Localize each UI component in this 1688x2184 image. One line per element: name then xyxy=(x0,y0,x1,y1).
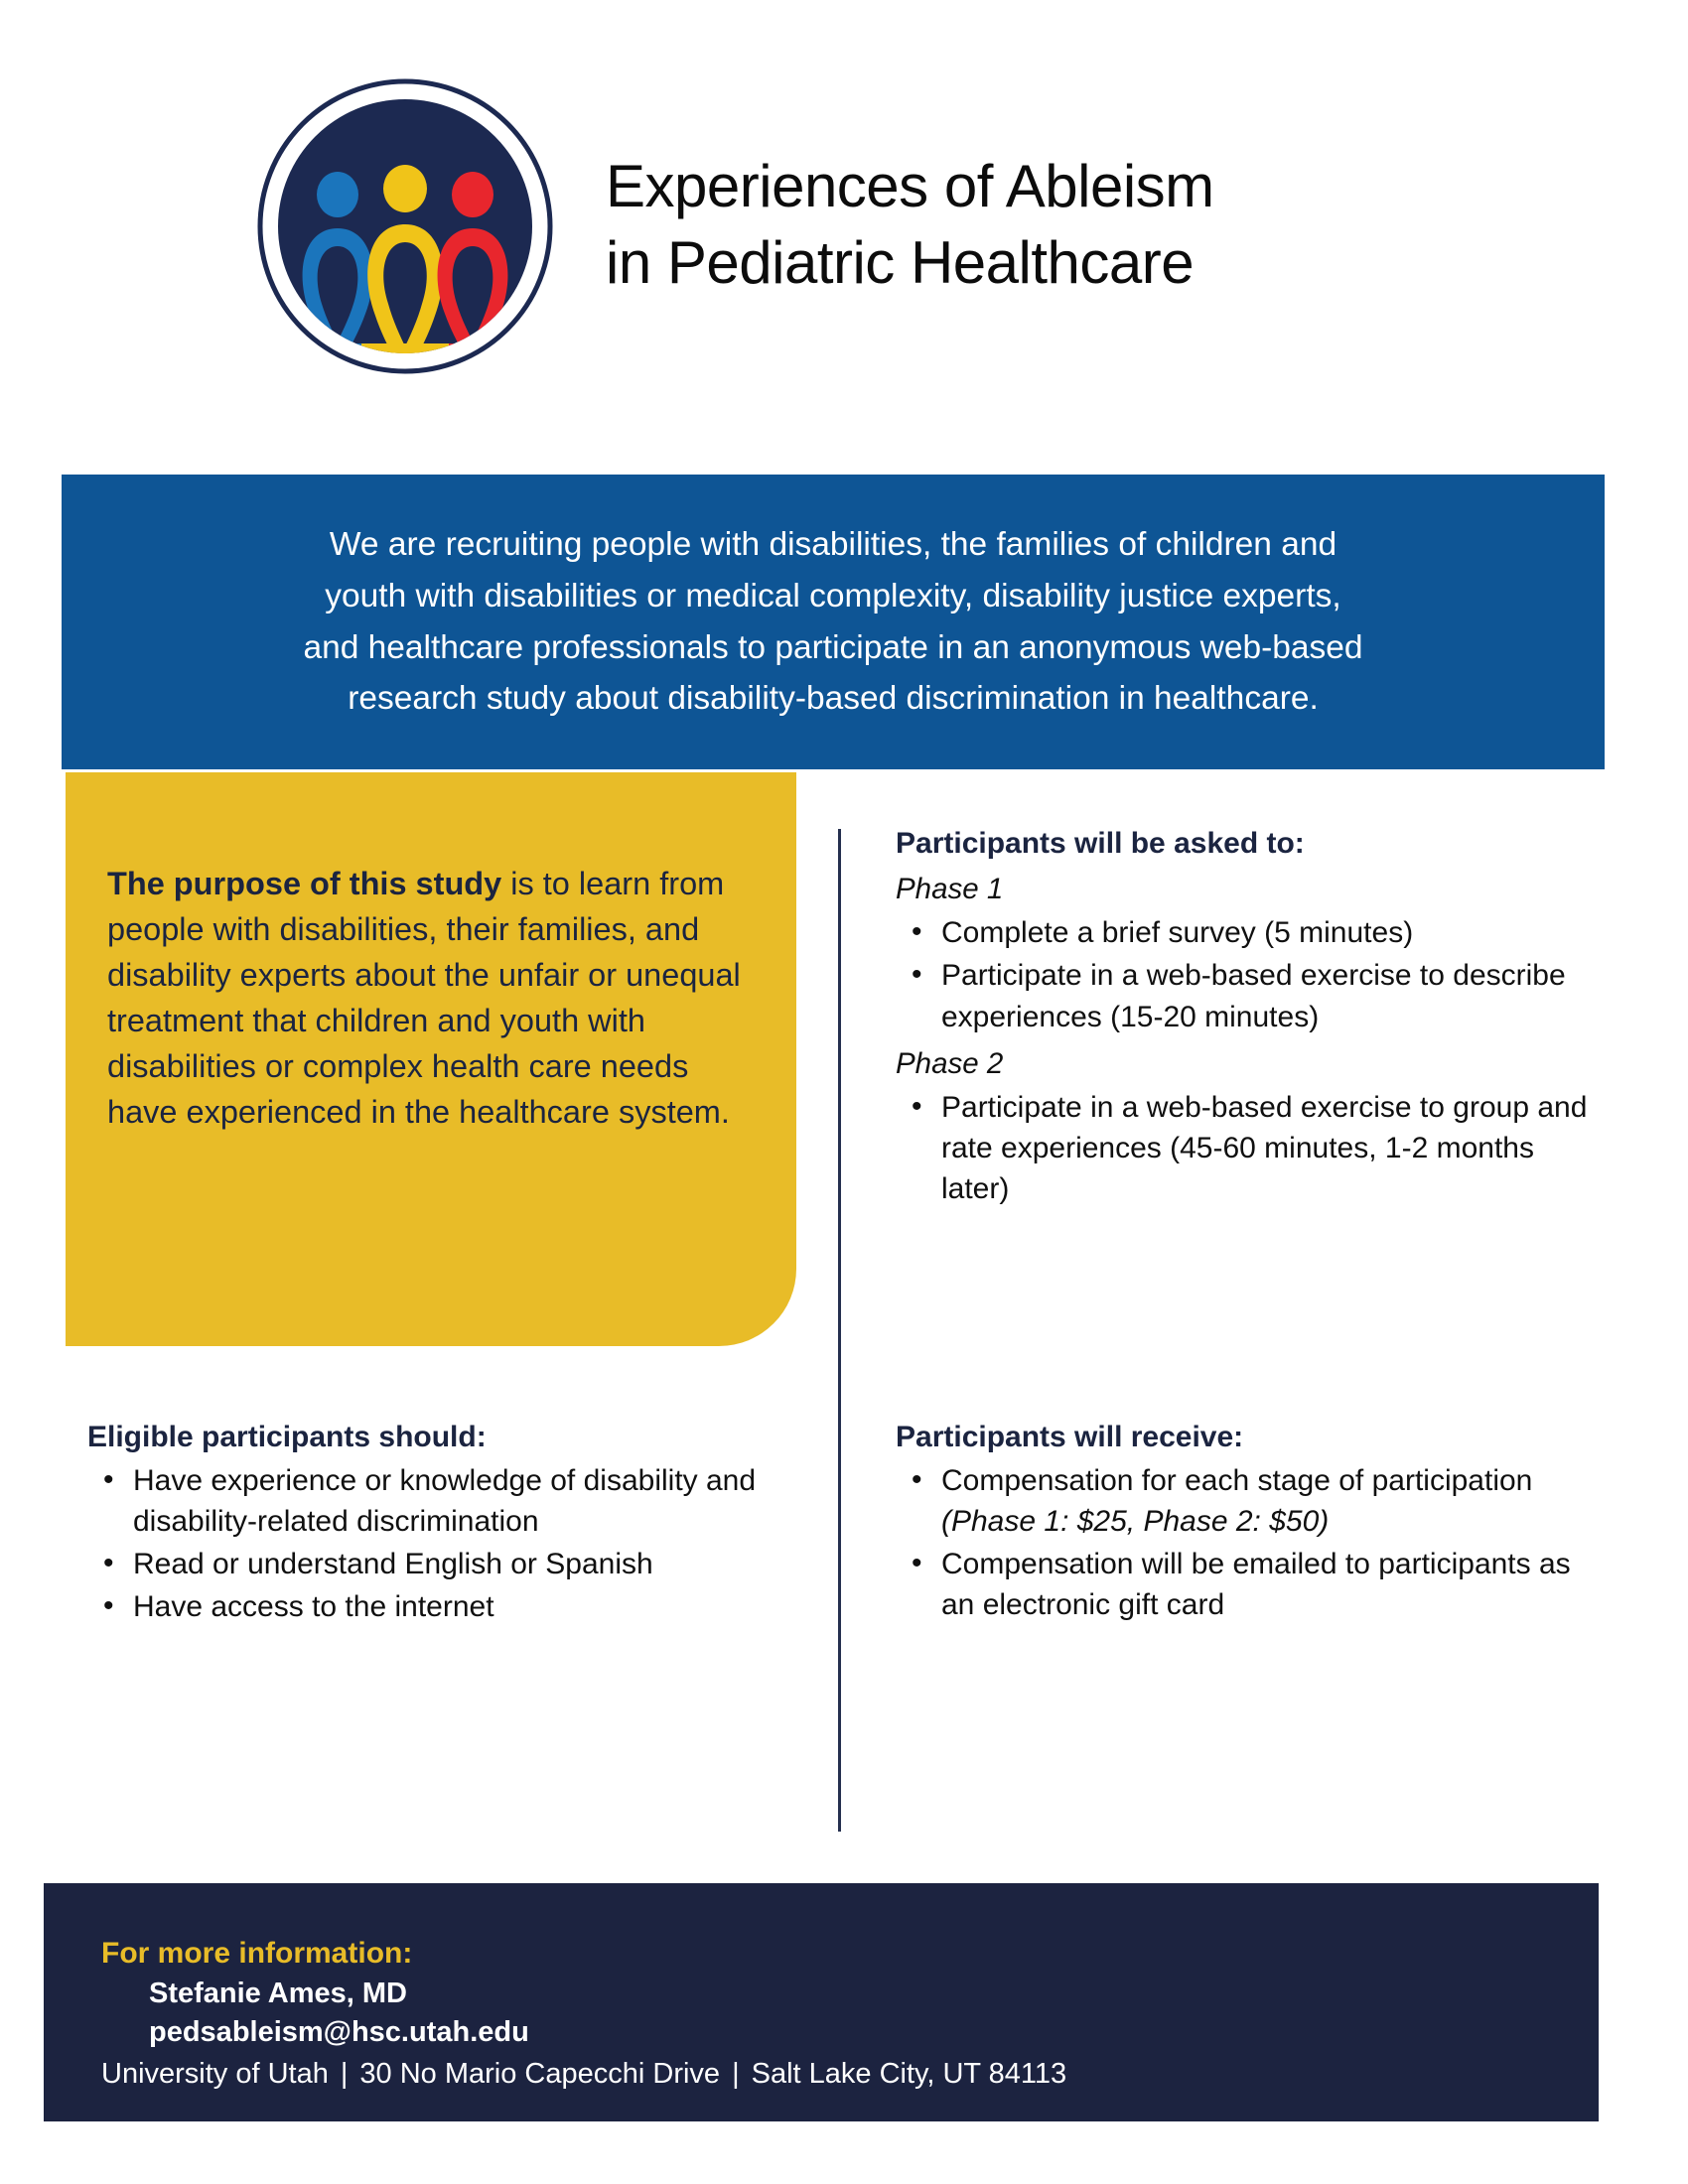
page-title-line-1: Experiences of Ableism xyxy=(606,149,1499,225)
address-street: 30 No Mario Capecchi Drive xyxy=(359,2058,720,2090)
experiences-of-ableism-logo xyxy=(256,77,554,375)
page-title-line-2: in Pediatric Healthcare xyxy=(606,225,1499,302)
address-institution: University of Utah xyxy=(101,2058,329,2090)
banner-line-4: research study about disability-based di… xyxy=(123,673,1543,725)
list-item: Have experience or knowledge of disabili… xyxy=(87,1460,802,1542)
compensation-amounts: (Phase 1: $25, Phase 2: $50) xyxy=(941,1505,1329,1538)
list-item: Participate in a web-based exercise to d… xyxy=(896,955,1591,1036)
flyer-header: Experiences of Ableism in Pediatric Heal… xyxy=(0,0,1688,475)
participants-receive-title: Participants will receive: xyxy=(896,1418,1591,1456)
contact-address: University of Utah|30 No Mario Capecchi … xyxy=(101,2055,1599,2094)
recruitment-banner: We are recruiting people with disabiliti… xyxy=(62,475,1605,769)
list-item: Have access to the internet xyxy=(87,1586,802,1627)
study-purpose-text: The purpose of this study is to learn fr… xyxy=(107,861,745,1136)
list-item: Complete a brief survey (5 minutes) xyxy=(896,912,1591,953)
study-purpose-box: The purpose of this study is to learn fr… xyxy=(66,772,796,1346)
list-item: Compensation for each stage of participa… xyxy=(896,1460,1591,1542)
participants-asked-block: Participants will be asked to: Phase 1 C… xyxy=(896,824,1591,1211)
list-item: Participate in a web-based exercise to g… xyxy=(896,1087,1591,1209)
address-city: Salt Lake City, UT 84113 xyxy=(752,2058,1067,2090)
footer-lead-label: For more information: xyxy=(101,1935,1599,1973)
contact-name: Stefanie Ames, MD xyxy=(149,1975,1599,2012)
banner-line-2: youth with disabilities or medical compl… xyxy=(123,571,1543,622)
banner-line-3: and healthcare professionals to particip… xyxy=(123,622,1543,674)
contact-email[interactable]: pedsableism@hsc.utah.edu xyxy=(149,2013,1599,2051)
banner-line-1: We are recruiting people with disabiliti… xyxy=(123,519,1543,571)
study-purpose-lead: The purpose of this study xyxy=(107,866,501,901)
page-title: Experiences of Ableism in Pediatric Heal… xyxy=(606,149,1499,302)
phase-1-label: Phase 1 xyxy=(896,871,1591,908)
eligible-participants-block: Eligible participants should: Have exper… xyxy=(87,1418,802,1629)
column-divider xyxy=(838,829,841,1832)
contact-footer: For more information: Stefanie Ames, MD … xyxy=(44,1883,1599,2121)
participants-asked-title: Participants will be asked to: xyxy=(896,824,1591,863)
list-item: Compensation will be emailed to particip… xyxy=(896,1544,1591,1625)
list-item-text: Compensation for each stage of participa… xyxy=(941,1464,1532,1497)
phase-2-label: Phase 2 xyxy=(896,1045,1591,1083)
phase-1-list: Complete a brief survey (5 minutes) Part… xyxy=(896,912,1591,1036)
list-item: Read or understand English or Spanish xyxy=(87,1544,802,1584)
recruitment-banner-text: We are recruiting people with disabiliti… xyxy=(123,519,1543,724)
eligible-participants-list: Have experience or knowledge of disabili… xyxy=(87,1460,802,1627)
phase-2-list: Participate in a web-based exercise to g… xyxy=(896,1087,1591,1209)
participants-receive-list: Compensation for each stage of participa… xyxy=(896,1460,1591,1625)
participants-receive-block: Participants will receive: Compensation … xyxy=(896,1418,1591,1627)
address-separator-2: | xyxy=(720,2058,752,2090)
study-purpose-body: is to learn from people with disabilitie… xyxy=(107,866,741,1131)
footer-contact-details: Stefanie Ames, MD pedsableism@hsc.utah.e… xyxy=(101,1975,1599,2051)
eligible-participants-title: Eligible participants should: xyxy=(87,1418,802,1456)
address-separator-1: | xyxy=(329,2058,360,2090)
